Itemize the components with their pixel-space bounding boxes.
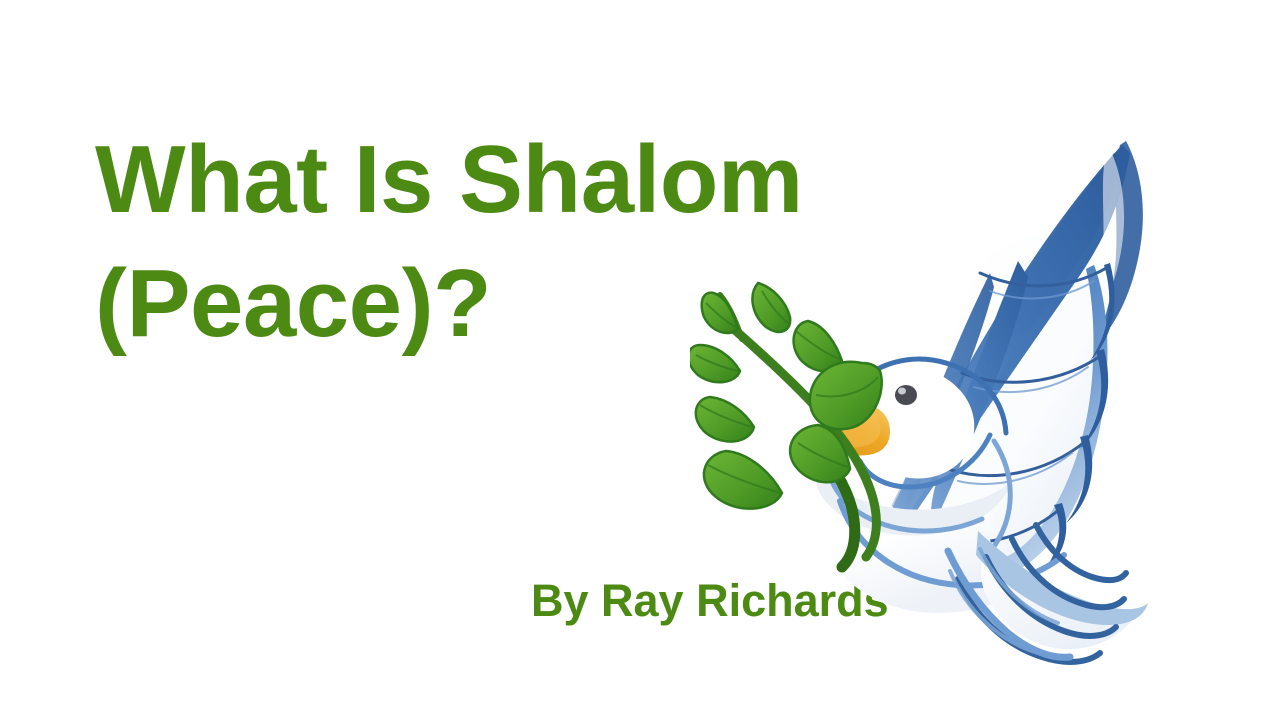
olive-branch (690, 283, 882, 567)
slide-canvas: What Is Shalom (Peace)? By Ray Richards (0, 0, 1280, 720)
peace-dove-icon (690, 105, 1150, 670)
dove-eye (895, 385, 917, 405)
